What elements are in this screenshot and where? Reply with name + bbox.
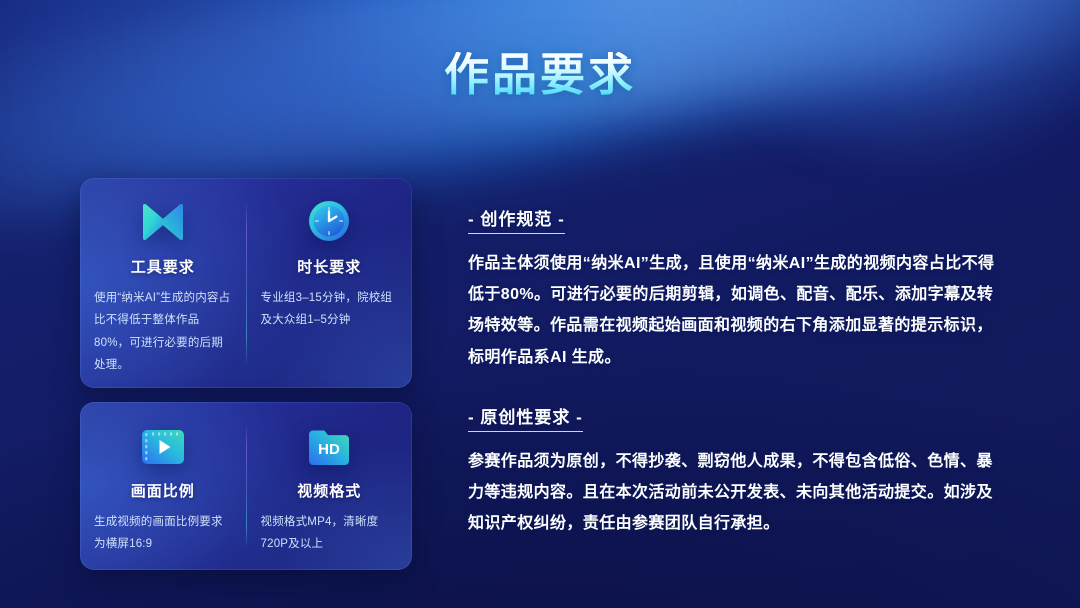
- section-creation-guidelines: - 创作规范 - 作品主体须使用“纳米AI”生成，且使用“纳米AI”生成的视频内…: [468, 205, 1008, 373]
- card-column-format: HD 视频格式 视频格式MP4，清晰度720P及以上: [247, 402, 413, 570]
- page-title: 作品要求: [0, 52, 1080, 97]
- slide-stage: 作品要求: [0, 0, 1080, 608]
- card-column-title: 时长要求: [297, 256, 361, 277]
- hd-folder-icon: HD: [308, 420, 350, 466]
- card-column-duration: 时长要求 专业组3–15分钟，院校组及大众组1–5分钟: [247, 178, 413, 388]
- hd-label: HD: [318, 441, 340, 458]
- skip-forward-icon: [140, 196, 186, 242]
- section-originality-requirements: - 原创性要求 - 参赛作品须为原创，不得抄袭、剽窃他人成果，不得包含低俗、色情…: [468, 403, 1008, 540]
- card-column-desc: 使用“纳米AI”生成的内容占比不得低于整体作品80%，可进行必要的后期处理。: [94, 287, 232, 377]
- card-column-desc: 专业组3–15分钟，院校组及大众组1–5分钟: [261, 287, 399, 332]
- card-column-title: 画面比例: [131, 480, 195, 501]
- card-ratio-format: 画面比例 生成视频的画面比例要求为横屏16:9: [80, 402, 412, 570]
- card-column-ratio: 画面比例 生成视频的画面比例要求为横屏16:9: [80, 402, 246, 570]
- card-column-title: 工具要求: [131, 256, 195, 277]
- section-body: 参赛作品须为原创，不得抄袭、剽窃他人成果，不得包含低俗、色情、暴力等违规内容。且…: [468, 446, 1008, 540]
- clock-icon: [308, 196, 350, 242]
- section-body: 作品主体须使用“纳米AI”生成，且使用“纳米AI”生成的视频内容占比不得低于80…: [468, 248, 1008, 373]
- card-column-desc: 生成视频的画面比例要求为横屏16:9: [94, 511, 232, 556]
- card-column-desc: 视频格式MP4，清晰度720P及以上: [261, 511, 399, 556]
- requirements-text: - 创作规范 - 作品主体须使用“纳米AI”生成，且使用“纳米AI”生成的视频内…: [468, 205, 1008, 569]
- card-tools-duration: 工具要求 使用“纳米AI”生成的内容占比不得低于整体作品80%，可进行必要的后期…: [80, 178, 412, 388]
- section-heading: - 原创性要求 -: [468, 403, 583, 432]
- card-column-title: 视频格式: [297, 480, 361, 501]
- feature-cards: 工具要求 使用“纳米AI”生成的内容占比不得低于整体作品80%，可进行必要的后期…: [80, 178, 412, 570]
- section-heading: - 创作规范 -: [468, 205, 565, 234]
- film-play-icon: [141, 420, 185, 466]
- card-column-tools: 工具要求 使用“纳米AI”生成的内容占比不得低于整体作品80%，可进行必要的后期…: [80, 178, 246, 388]
